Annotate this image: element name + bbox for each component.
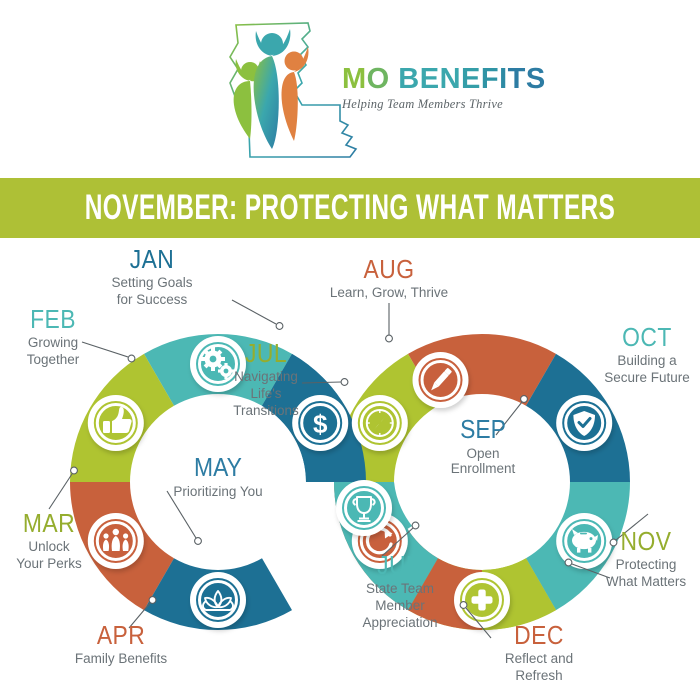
label-may-month: MAY — [155, 454, 282, 480]
label-nov-month: NOV — [598, 528, 693, 554]
banner-title: NOVEMBER: PROTECTING WHAT MATTERS — [85, 188, 616, 228]
icon-badge-jul[interactable] — [352, 395, 408, 451]
label-mar-month: MAR — [1, 510, 98, 536]
label-jul-desc: Navigating Life's Transitions — [222, 369, 310, 420]
icon-badge-nov[interactable] — [454, 572, 510, 628]
label-dec-desc: Reflect and Refresh — [474, 651, 604, 685]
dollar-sign-icon: $ — [313, 409, 328, 439]
label-sep-desc: Open Enrollment — [420, 446, 546, 476]
label-mar: MAR Unlock Your Perks — [0, 510, 104, 573]
icon-badge-sep[interactable] — [556, 395, 612, 451]
month-banner: NOVEMBER: PROTECTING WHAT MATTERS — [0, 178, 700, 238]
label-may-desc: Prioritizing You — [146, 484, 290, 499]
label-dec: DEC Reflect and Refresh — [474, 622, 604, 685]
benefits-wheel: $ — [0, 238, 700, 700]
icon-badge-jun[interactable] — [336, 480, 392, 536]
label-jan: JAN Setting Goals for Success — [72, 246, 232, 309]
logo-lockup: MO BENEFITS Helping Team Members Thrive — [190, 13, 510, 163]
label-feb: FEB Growing Together — [0, 306, 108, 369]
label-dec-month: DEC — [482, 622, 596, 648]
brand-tagline: Helping Team Members Thrive — [342, 97, 512, 112]
label-oct-desc: Building a Secure Future — [594, 353, 700, 387]
label-jul: JUL Navigating Life's Transitions — [222, 340, 310, 420]
icon-badge-aug[interactable] — [413, 352, 469, 408]
label-aug-desc: Learn, Grow, Thrive — [311, 285, 467, 302]
label-sep: SEP Open Enrollment — [420, 416, 546, 476]
label-feb-desc: Growing Together — [0, 335, 108, 369]
label-jan-desc: Setting Goals for Success — [72, 275, 232, 309]
label-apr-month: APR — [64, 622, 178, 648]
label-jan-month: JAN — [82, 246, 223, 272]
icon-badge-may[interactable] — [190, 572, 246, 628]
label-jun-desc: State Team Member Appreciation — [344, 581, 456, 632]
label-jul-month: JUL — [227, 340, 304, 366]
label-jun-month: JUN — [351, 552, 450, 578]
logo-text-block: MO BENEFITS Helping Team Members Thrive — [342, 65, 512, 112]
label-may: MAY Prioritizing You — [146, 454, 290, 499]
label-apr-desc: Family Benefits — [56, 651, 186, 668]
label-nov: NOV Protecting What Matters — [592, 528, 700, 591]
label-oct: OCT Building a Secure Future — [594, 324, 700, 387]
label-oct-month: OCT — [600, 324, 693, 350]
infographic-page: MO BENEFITS Helping Team Members Thrive … — [0, 0, 700, 700]
label-aug-month: AUG — [320, 256, 457, 282]
label-nov-desc: Protecting What Matters — [592, 557, 700, 591]
icon-badge-mar[interactable] — [88, 395, 144, 451]
label-aug: AUG Learn, Grow, Thrive — [311, 256, 467, 302]
label-mar-desc: Unlock Your Perks — [0, 539, 104, 573]
label-feb-month: FEB — [5, 306, 102, 332]
brand-title: MO BENEFITS — [342, 65, 512, 94]
label-sep-month: SEP — [428, 416, 539, 442]
label-apr: APR Family Benefits — [56, 622, 186, 668]
label-jun: JUN State Team Member Appreciation — [344, 552, 456, 632]
logo-header: MO BENEFITS Helping Team Members Thrive — [0, 0, 700, 175]
